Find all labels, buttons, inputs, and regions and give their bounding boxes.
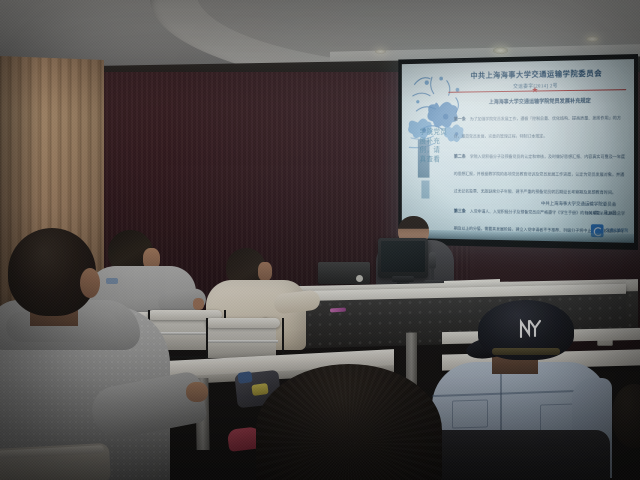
downlight-icon xyxy=(493,47,508,54)
backpack-yellow-patch xyxy=(251,383,268,396)
partial-person-far-right xyxy=(612,384,640,448)
signature-date: 2014年10月20日 xyxy=(541,210,616,217)
document-subject-title: 上海海事大学交通运输学院党员发展补充规定 xyxy=(456,96,626,106)
woman-cream-coat-face xyxy=(258,262,272,281)
overlay-line: 例，请 xyxy=(420,146,469,155)
foreground-man-ear xyxy=(80,268,100,298)
projection-screen: 中共上海海事大学交通运输学院委员会 交运委字[2014] 2号 ★ 上海海事大学… xyxy=(398,54,638,250)
monitor-stand xyxy=(392,276,414,282)
denim-pocket-left xyxy=(452,399,488,428)
table-microphone xyxy=(429,252,436,269)
desktop-monitor xyxy=(378,238,428,278)
projected-document: 中共上海海事大学交通运输学院委员会 交运委字[2014] 2号 ★ 上海海事大学… xyxy=(402,59,634,243)
downlight-icon xyxy=(375,49,386,54)
clause-text: 为了加强学院党员发展工作，遵循「控制总量、优化结构、提高质量、发挥作用」的方针，… xyxy=(454,115,621,138)
downlight-icon xyxy=(586,36,599,42)
overlay-line: 真查看 xyxy=(420,155,469,164)
sweater-chest-logo xyxy=(106,278,118,284)
projector xyxy=(318,262,370,284)
document-body: 第一条 为了加强学院党员发展工作，遵循「控制总量、优化结构、提高质量、发挥作用」… xyxy=(454,106,626,243)
document-title: 中共上海海事大学交通运输学院委员会 xyxy=(445,67,630,81)
signature-organization: 中共上海海事大学交通运输学院委员会 xyxy=(541,201,616,208)
cap-rear-band xyxy=(492,348,560,355)
document-signature: 中共上海海事大学交通运输学院委员会 2014年10月20日 xyxy=(541,201,616,217)
projected-image: 中共上海海事大学交通运输学院委员会 交运委字[2014] 2号 ★ 上海海事大学… xyxy=(402,59,634,243)
ny-logo-icon xyxy=(516,316,542,342)
projector-lens-icon xyxy=(356,275,363,282)
lecture-room-photo: 中共上海海事大学交通运输学院委员会 交运委字[2014] 2号 ★ 上海海事大学… xyxy=(0,0,640,480)
clause-text: 学院入党积极分子及预备党员的认定和审核，及时做好思想汇报、内容真实可靠及一年度的… xyxy=(454,154,625,195)
foreground-man-hand xyxy=(186,382,208,402)
overlay-line: 展补充 xyxy=(420,137,469,146)
document-clause: 第一条 为了加强学院党员发展工作，遵循「控制总量、优化结构、提高质量、发挥作用」… xyxy=(454,106,626,142)
monitor-screen xyxy=(381,241,425,272)
overlay-annotation: 学院党员 展补充 例，请 真查看 xyxy=(420,128,469,164)
backpack-blue-patch xyxy=(237,371,252,384)
man-grey-sweater-hand xyxy=(193,298,204,310)
document-clause: 第二条 学院入党积极分子及预备党员的认定和审核，及时做好思想汇报、内容真实可靠及… xyxy=(454,145,626,199)
clause-label: 第三条 xyxy=(454,208,466,213)
clause-label: 第一条 xyxy=(454,117,466,122)
dark-chair-front-right xyxy=(420,430,610,480)
overlay-line: 学院党员 xyxy=(420,128,469,137)
overlay-bar xyxy=(421,180,429,198)
red-star-icon: ★ xyxy=(532,86,539,94)
denim-pocket-right xyxy=(540,403,576,432)
